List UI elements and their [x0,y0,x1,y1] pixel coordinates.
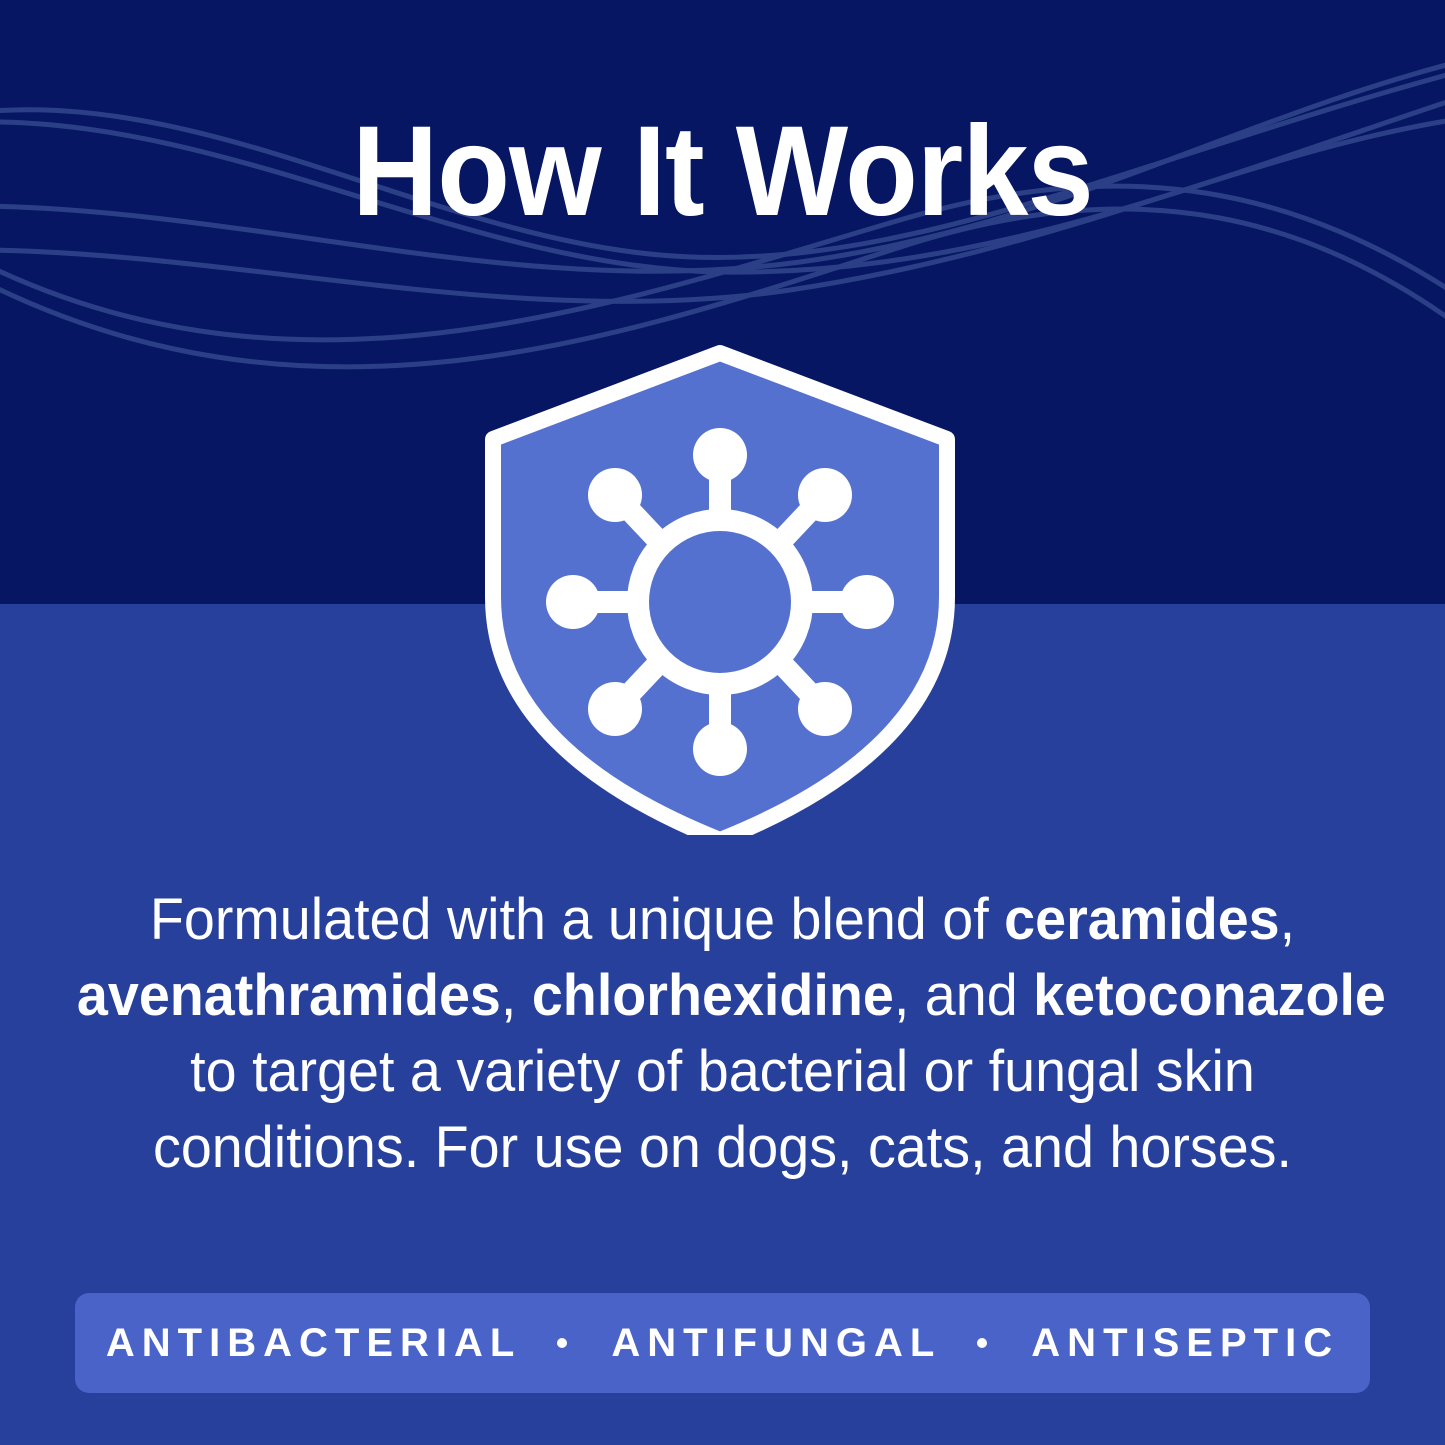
claims-banner-text: ANTIBACTERIAL ANTIFUNGAL ANTISEPTIC [106,1321,1339,1366]
claim-separator-dot-1 [557,1338,567,1348]
body-paragraph: Formulated with a unique blend of cerami… [77,882,1368,1186]
shield-germ-icon [455,335,990,835]
body-line-2: avenathramides, chlorhexidine, and ketoc… [77,958,1368,1034]
claim-antiseptic: ANTISEPTIC [1031,1321,1339,1366]
page-title: How It Works [51,108,1395,236]
body-line-1: Formulated with a unique blend of cerami… [77,882,1368,958]
promo-graphic: How It Works [0,0,1445,1445]
claim-separator-dot-2 [977,1338,987,1348]
claim-antibacterial: ANTIBACTERIAL [106,1321,521,1366]
claims-banner: ANTIBACTERIAL ANTIFUNGAL ANTISEPTIC [75,1293,1370,1393]
body-line-4: conditions. For use on dogs, cats, and h… [77,1110,1368,1186]
body-line-3: to target a variety of bacterial or fung… [77,1034,1368,1110]
claim-antifungal: ANTIFUNGAL [611,1321,941,1366]
